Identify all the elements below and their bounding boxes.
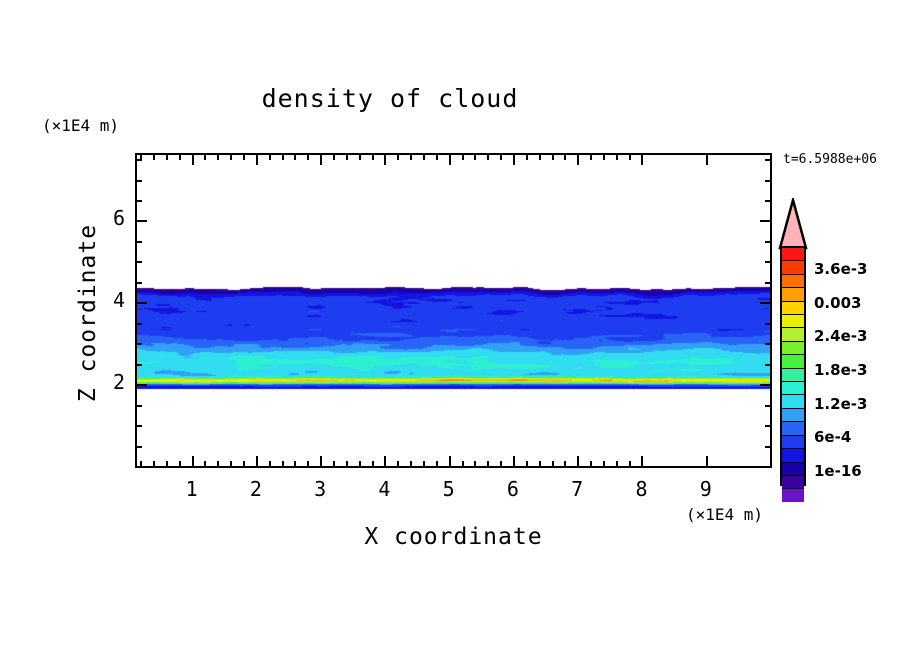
contour-field (137, 155, 770, 466)
x-axis-unit-label: (×1E4 m) (686, 505, 763, 524)
colorbar-tick-label: 1.2e-3 (814, 395, 867, 413)
colorbar-tick-label: 1.8e-3 (814, 361, 867, 379)
colorbar-tick-label: 2.4e-3 (814, 327, 867, 345)
colorbar-tick-label: 3.6e-3 (814, 260, 867, 278)
x-tick-label: 6 (493, 477, 533, 501)
x-tick-label: 1 (172, 477, 212, 501)
x-tick-label: 4 (364, 477, 404, 501)
y-tick-label: 6 (91, 206, 125, 230)
colorbar-tick-label: 6e-4 (814, 428, 851, 446)
y-tick-label: 2 (91, 370, 125, 394)
plot-title: density of cloud (0, 84, 780, 113)
figure-canvas: density of cloud (×1E4 m) Z coordinate 1… (0, 0, 904, 654)
x-tick-label: 5 (429, 477, 469, 501)
x-tick-label: 8 (621, 477, 661, 501)
colorbar-over-arrow (778, 198, 808, 250)
colorbar-tick-label: 1e-16 (814, 462, 862, 480)
y-tick-label: 4 (91, 288, 125, 312)
colorbar-tick-labels: 3.6e-30.0032.4e-31.8e-31.2e-36e-41e-16 (770, 246, 904, 486)
x-tick-label: 3 (300, 477, 340, 501)
colorbar-tick-label: 0.003 (814, 294, 861, 312)
x-tick-label: 7 (557, 477, 597, 501)
x-tick-label: 9 (686, 477, 726, 501)
colorbar-cell (782, 488, 804, 501)
time-annotation: t=6.5988e+06 (783, 152, 877, 167)
plot-area (135, 153, 772, 468)
x-axis-title: X coordinate (135, 524, 772, 550)
y-axis-unit-label: (×1E4 m) (42, 116, 119, 135)
colorbar: 3.6e-30.0032.4e-31.8e-31.2e-36e-41e-16 (770, 198, 904, 498)
x-tick-label: 2 (236, 477, 276, 501)
